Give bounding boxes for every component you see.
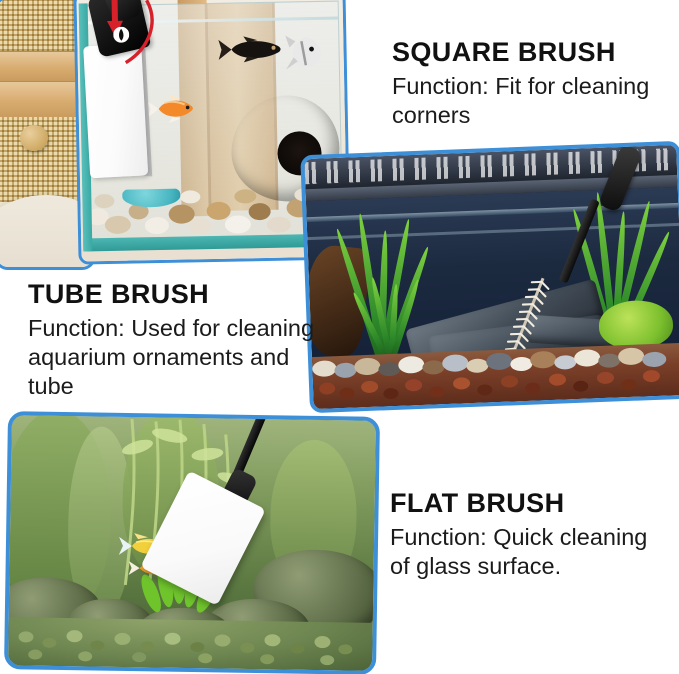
flat-brush-text-block: FLAT BRUSH Function: Quick cleaning of g…	[390, 487, 660, 581]
tube-brush-photo	[304, 145, 679, 409]
square-brush-text-block: SQUARE BRUSH Function: Fit for cleaning …	[392, 36, 654, 130]
tube-brush-heading: TUBE BRUSH	[28, 278, 318, 310]
tube-brush-description: Function: Used for cleaning aquarium orn…	[28, 314, 318, 401]
flat-brush-photo-panel	[4, 411, 380, 674]
black-moor-fish	[217, 36, 287, 63]
goldfish	[146, 93, 195, 124]
flat-brush-heading: FLAT BRUSH	[390, 487, 660, 519]
tube-brush-text-block: TUBE BRUSH Function: Used for cleaning a…	[28, 278, 318, 401]
flat-brush-description: Function: Quick cleaning of glass surfac…	[390, 523, 660, 581]
infographic-canvas: SQUARE BRUSH Function: Fit for cleaning …	[0, 0, 679, 674]
flat-brush-photo	[8, 415, 376, 671]
blue-coral-ornament	[122, 186, 180, 208]
square-brush-description: Function: Fit for cleaning corners	[392, 72, 654, 130]
square-brush-heading: SQUARE BRUSH	[392, 36, 654, 68]
tube-brush-photo-panel	[300, 141, 679, 413]
gravel-substrate	[8, 617, 373, 671]
brand-logo-icon	[113, 27, 129, 43]
drawer-knob	[20, 125, 48, 151]
